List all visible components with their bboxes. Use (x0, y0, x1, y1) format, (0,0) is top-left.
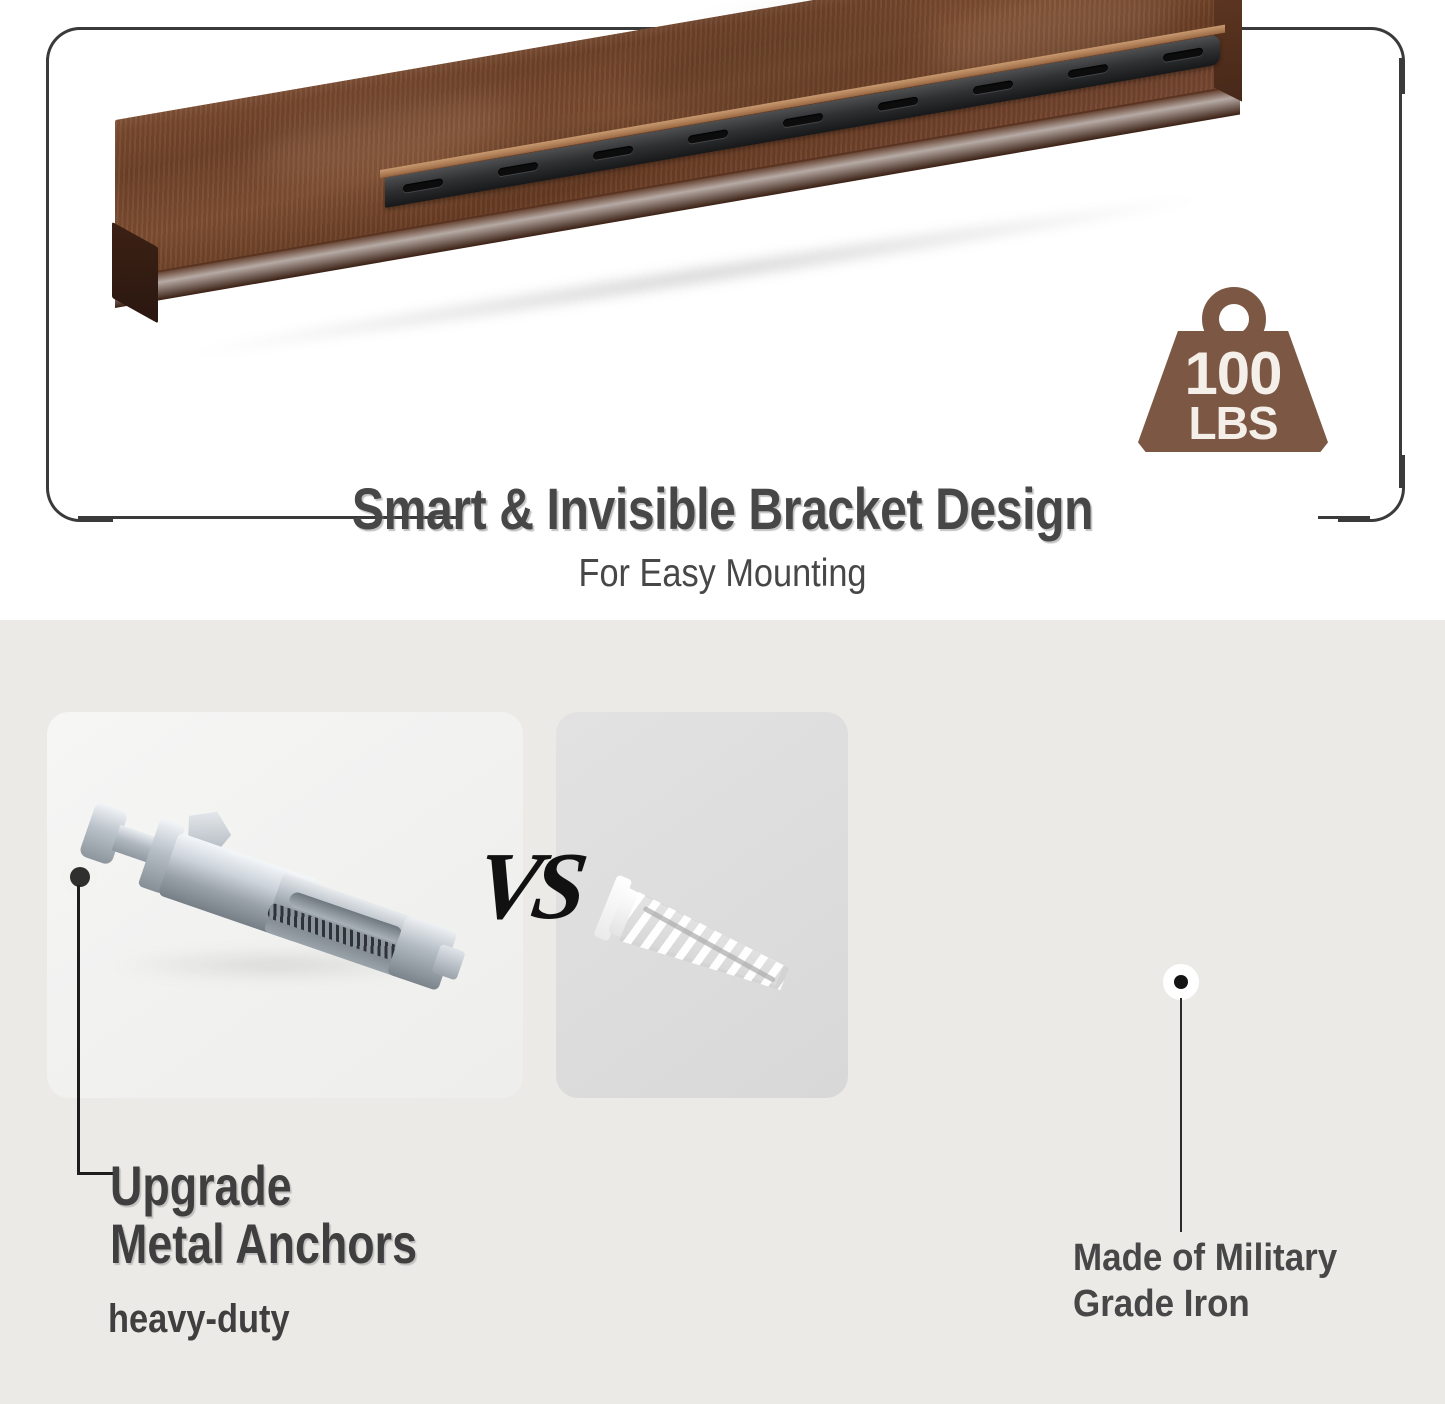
frame-border-left (46, 58, 49, 488)
weight-unit: LBS (1138, 402, 1328, 446)
bracket-slot (403, 178, 443, 193)
page-subtitle: For Easy Mounting (87, 552, 1359, 596)
metal-anchor-heading-line2: Metal Anchors (110, 1215, 622, 1273)
iron-rod-caption-line1: Made of Military (1073, 1235, 1445, 1281)
bracket-slot (688, 129, 728, 144)
bracket-slot (783, 113, 823, 128)
bracket-slot (593, 145, 633, 160)
metal-anchor-heading-line1: Upgrade (110, 1157, 622, 1215)
page-title: Smart & Invisible Bracket Design (123, 476, 1322, 543)
weight-capacity-badge: 100 LBS (1138, 287, 1328, 452)
versus-mark: VS (468, 838, 596, 950)
metal-anchor-subtitle: heavy-duty (108, 1297, 290, 1342)
bracket-slot (973, 80, 1013, 95)
frame-corner-bottom-right (1338, 455, 1405, 522)
weight-value: 100 (1138, 345, 1328, 402)
frame-corner-top-right (1338, 27, 1405, 94)
bracket-slot (1163, 47, 1203, 62)
hero-section: 100 LBS Smart & Invisible Bracket Design… (0, 0, 1445, 620)
bracket-slot (1068, 64, 1108, 79)
metal-anchor-heading: Upgrade Metal Anchors (110, 1157, 622, 1272)
iron-rod-caption-line2: Grade Iron (1073, 1281, 1445, 1327)
bracket-slot (878, 96, 918, 111)
floating-shelf-image (80, 10, 1310, 460)
frame-corner-bottom-left (46, 455, 113, 522)
frame-border-right (1399, 58, 1402, 488)
bracket-slot (498, 162, 538, 177)
weight-badge-text: 100 LBS (1138, 345, 1328, 446)
iron-rod-caption: Made of Military Grade Iron (1073, 1235, 1445, 1328)
